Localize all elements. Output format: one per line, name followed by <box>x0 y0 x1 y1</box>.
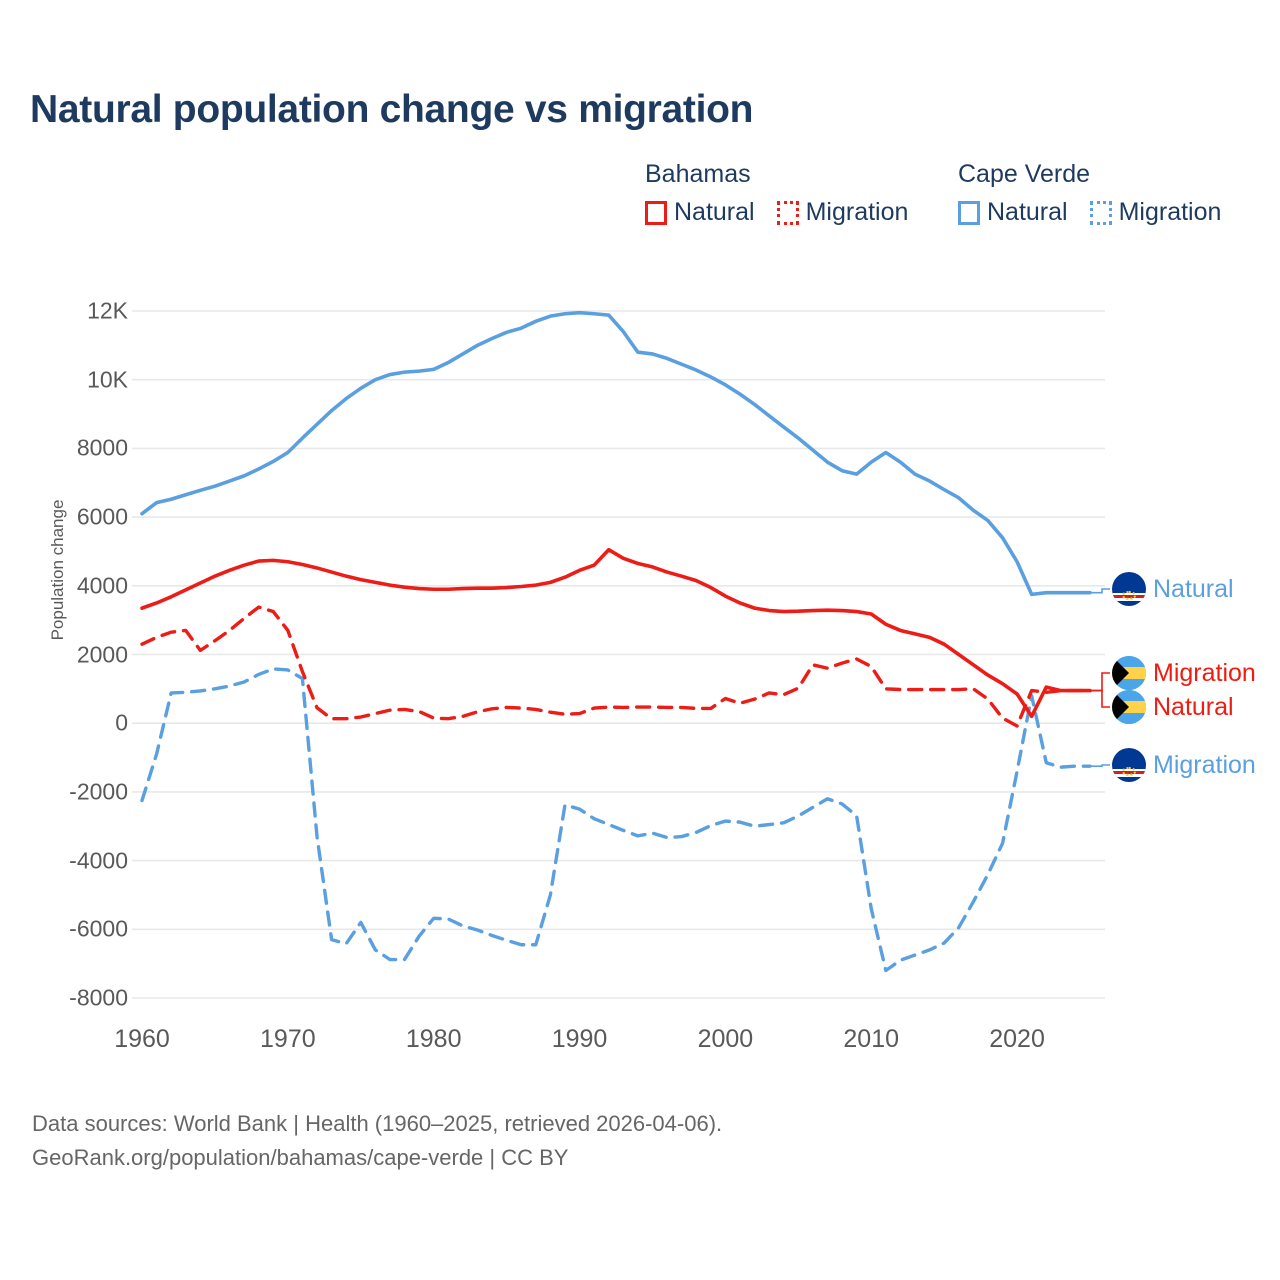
end-label-connector <box>1090 691 1110 707</box>
x-tick-label: 2010 <box>811 1025 931 1054</box>
line-chart: Population change -8000-6000-4000-200002… <box>0 0 1280 1280</box>
footer-line-url[interactable]: GeoRank.org/population/bahamas/cape-verd… <box>32 1141 722 1175</box>
chart-canvas <box>0 0 1280 1280</box>
y-tick-label: 2000 <box>8 641 128 668</box>
end-label-bahamas-migration[interactable]: Migration <box>1112 656 1256 690</box>
series-line-2 <box>142 550 1090 717</box>
end-label-text: Migration <box>1153 659 1256 688</box>
footer-attribution: Data sources: World Bank | Health (1960–… <box>32 1107 722 1175</box>
bahamas-flag-icon <box>1112 656 1146 690</box>
y-tick-label: 4000 <box>8 572 128 599</box>
x-tick-label: 1960 <box>82 1025 202 1054</box>
end-label-connector <box>1090 589 1110 593</box>
cape-verde-flag-icon <box>1112 572 1146 606</box>
y-tick-label: -8000 <box>8 985 128 1012</box>
end-label-text: Migration <box>1153 751 1256 780</box>
x-tick-label: 2020 <box>957 1025 1077 1054</box>
cape-verde-flag-icon <box>1112 748 1146 782</box>
y-tick-label: 0 <box>8 710 128 737</box>
y-axis-label: Population change <box>48 470 68 670</box>
x-tick-label: 2000 <box>665 1025 785 1054</box>
series-line-1 <box>142 669 1090 971</box>
end-label-text: Natural <box>1153 575 1234 604</box>
x-tick-label: 1970 <box>228 1025 348 1054</box>
y-tick-label: -4000 <box>8 847 128 874</box>
series-line-0 <box>142 313 1090 595</box>
y-tick-label: -6000 <box>8 916 128 943</box>
end-label-connector <box>1090 673 1110 691</box>
series-line-3 <box>142 607 1090 726</box>
x-tick-label: 1990 <box>520 1025 640 1054</box>
end-label-bahamas-natural[interactable]: Natural <box>1112 690 1234 724</box>
bahamas-flag-icon <box>1112 690 1146 724</box>
end-label-connector <box>1090 765 1110 766</box>
end-label-cape-verde-natural[interactable]: Natural <box>1112 572 1234 606</box>
end-label-cape-verde-migration[interactable]: Migration <box>1112 748 1256 782</box>
y-tick-label: 8000 <box>8 435 128 462</box>
footer-line-sources: Data sources: World Bank | Health (1960–… <box>32 1107 722 1141</box>
end-label-text: Natural <box>1153 693 1234 722</box>
y-tick-label: 10K <box>8 366 128 393</box>
y-tick-label: -2000 <box>8 778 128 805</box>
y-tick-label: 12K <box>8 298 128 325</box>
x-tick-label: 1980 <box>374 1025 494 1054</box>
y-tick-label: 6000 <box>8 504 128 531</box>
